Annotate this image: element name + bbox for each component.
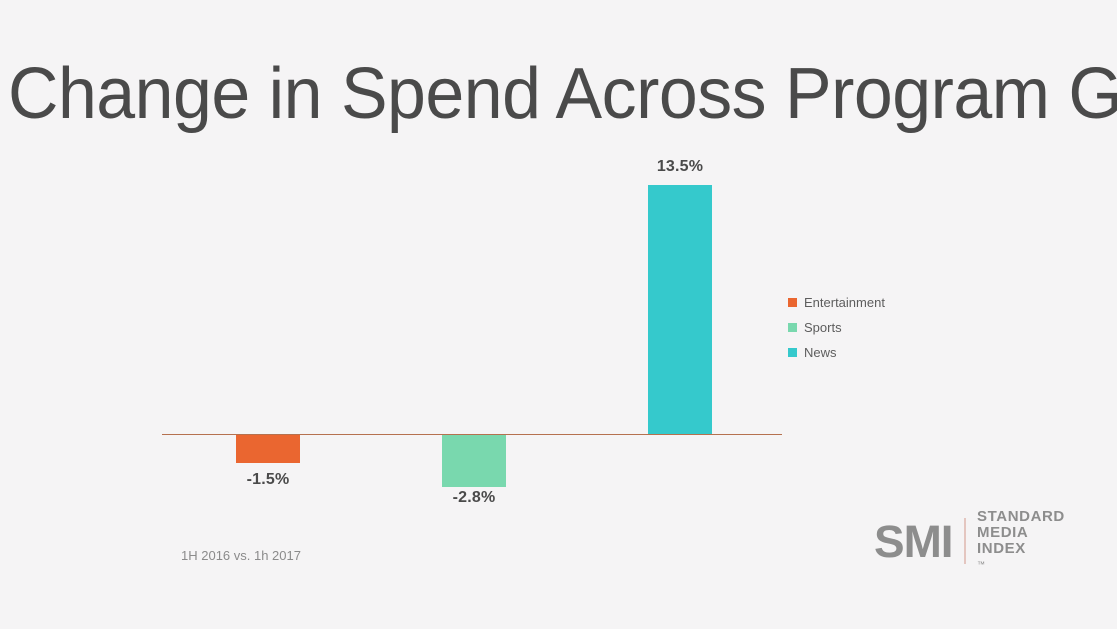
slide-canvas: Change in Spend Across Program Genres -1… [0,0,1117,629]
bar-label-entertainment: -1.5% [198,471,338,489]
legend-swatch-icon [788,348,797,357]
bar-entertainment[interactable] [236,435,300,463]
logo-line-media: MEDIA [977,525,1065,541]
trademark-icon: ™ [977,557,1065,573]
legend-label-entertainment: Entertainment [804,295,885,310]
logo-line-standard: STANDARD [977,509,1065,525]
smi-logo: SMI STANDARD MEDIA INDEX™ [874,513,1065,569]
bar-sports[interactable] [442,435,506,487]
legend-label-news: News [804,345,837,360]
legend-item-entertainment[interactable]: Entertainment [788,290,948,315]
bar-news[interactable] [648,185,712,434]
legend-swatch-icon [788,298,797,307]
logo-mark-text: SMI [874,519,953,564]
bar-label-news: 13.5% [610,158,750,176]
legend-item-sports[interactable]: Sports [788,315,948,340]
logo-line-index-wrap: INDEX™ [977,541,1065,573]
legend-swatch-icon [788,323,797,332]
logo-line-index: INDEX [977,541,1065,557]
logo-divider [964,518,966,564]
footnote: 1H 2016 vs. 1h 2017 [181,548,301,563]
logo-wordmark: STANDARD MEDIA INDEX™ [977,509,1065,573]
bar-label-sports: -2.8% [404,489,544,507]
legend-item-news[interactable]: News [788,340,948,365]
chart-legend: Entertainment Sports News [788,290,948,365]
legend-label-sports: Sports [804,320,842,335]
